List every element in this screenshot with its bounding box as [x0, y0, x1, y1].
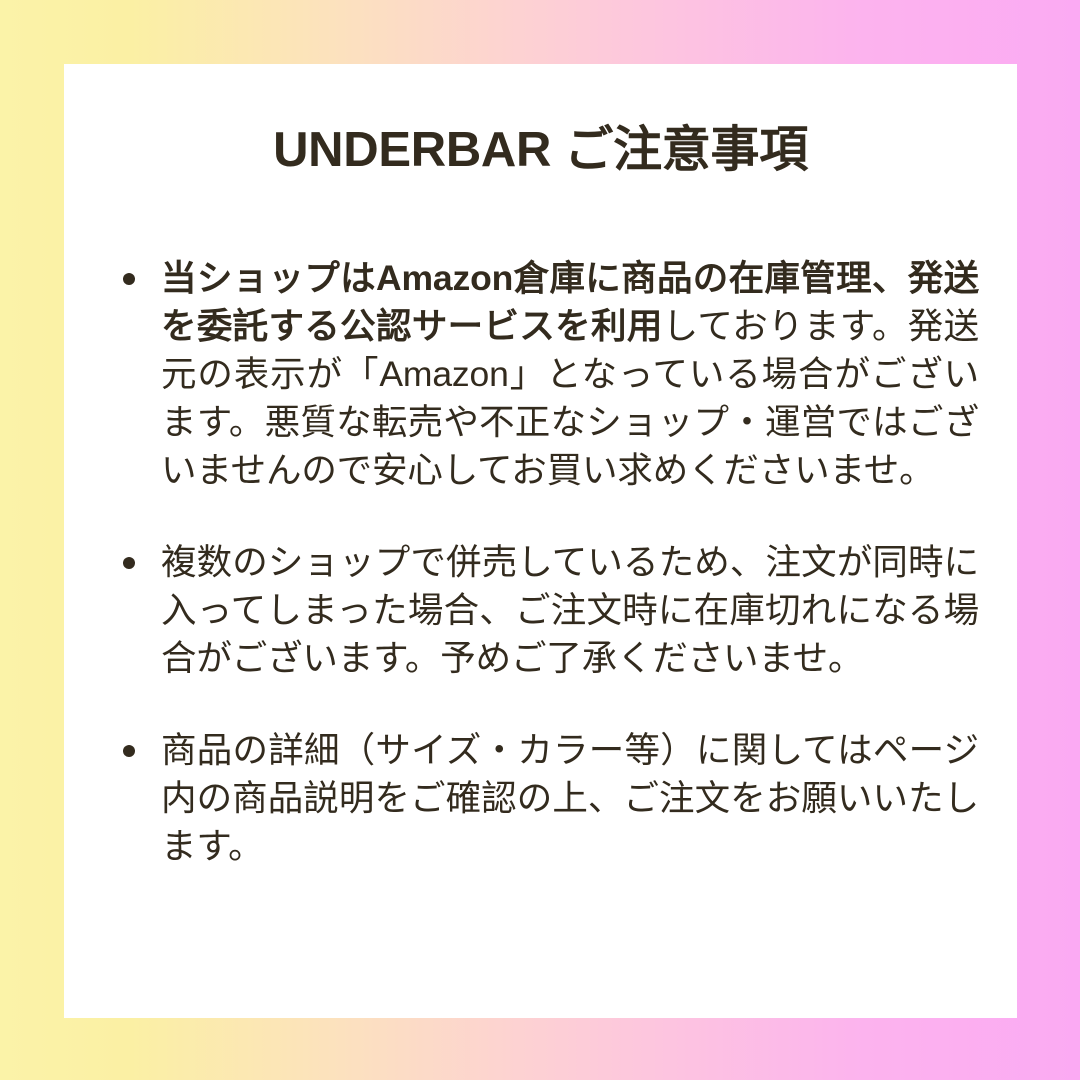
notice-body-text: 商品の詳細（サイズ・カラー等）に関してはページ内の商品説明をご確認の上、ご注文を…	[161, 730, 979, 866]
notice-card: UNDERBAR ご注意事項 当ショップはAmazon倉庫に商品の在庫管理、発送…	[64, 64, 1017, 1018]
bullet-point-icon	[123, 745, 135, 757]
page-title: UNDERBAR ご注意事項	[64, 110, 1017, 181]
list-item: 複数のショップで併売しているため、注文が同時に入ってしまった場合、ご注文時に在庫…	[112, 538, 979, 682]
bullet-point-icon	[123, 557, 135, 569]
list-item: 商品の詳細（サイズ・カラー等）に関してはページ内の商品説明をご確認の上、ご注文を…	[112, 726, 979, 870]
bullet-point-icon	[123, 273, 135, 285]
notice-list: 当ショップはAmazon倉庫に商品の在庫管理、発送を委託する公認サービスを利用し…	[112, 254, 979, 870]
notice-body-text: 複数のショップで併売しているため、注文が同時に入ってしまった場合、ご注文時に在庫…	[161, 542, 979, 678]
list-item: 当ショップはAmazon倉庫に商品の在庫管理、発送を委託する公認サービスを利用し…	[112, 254, 979, 494]
